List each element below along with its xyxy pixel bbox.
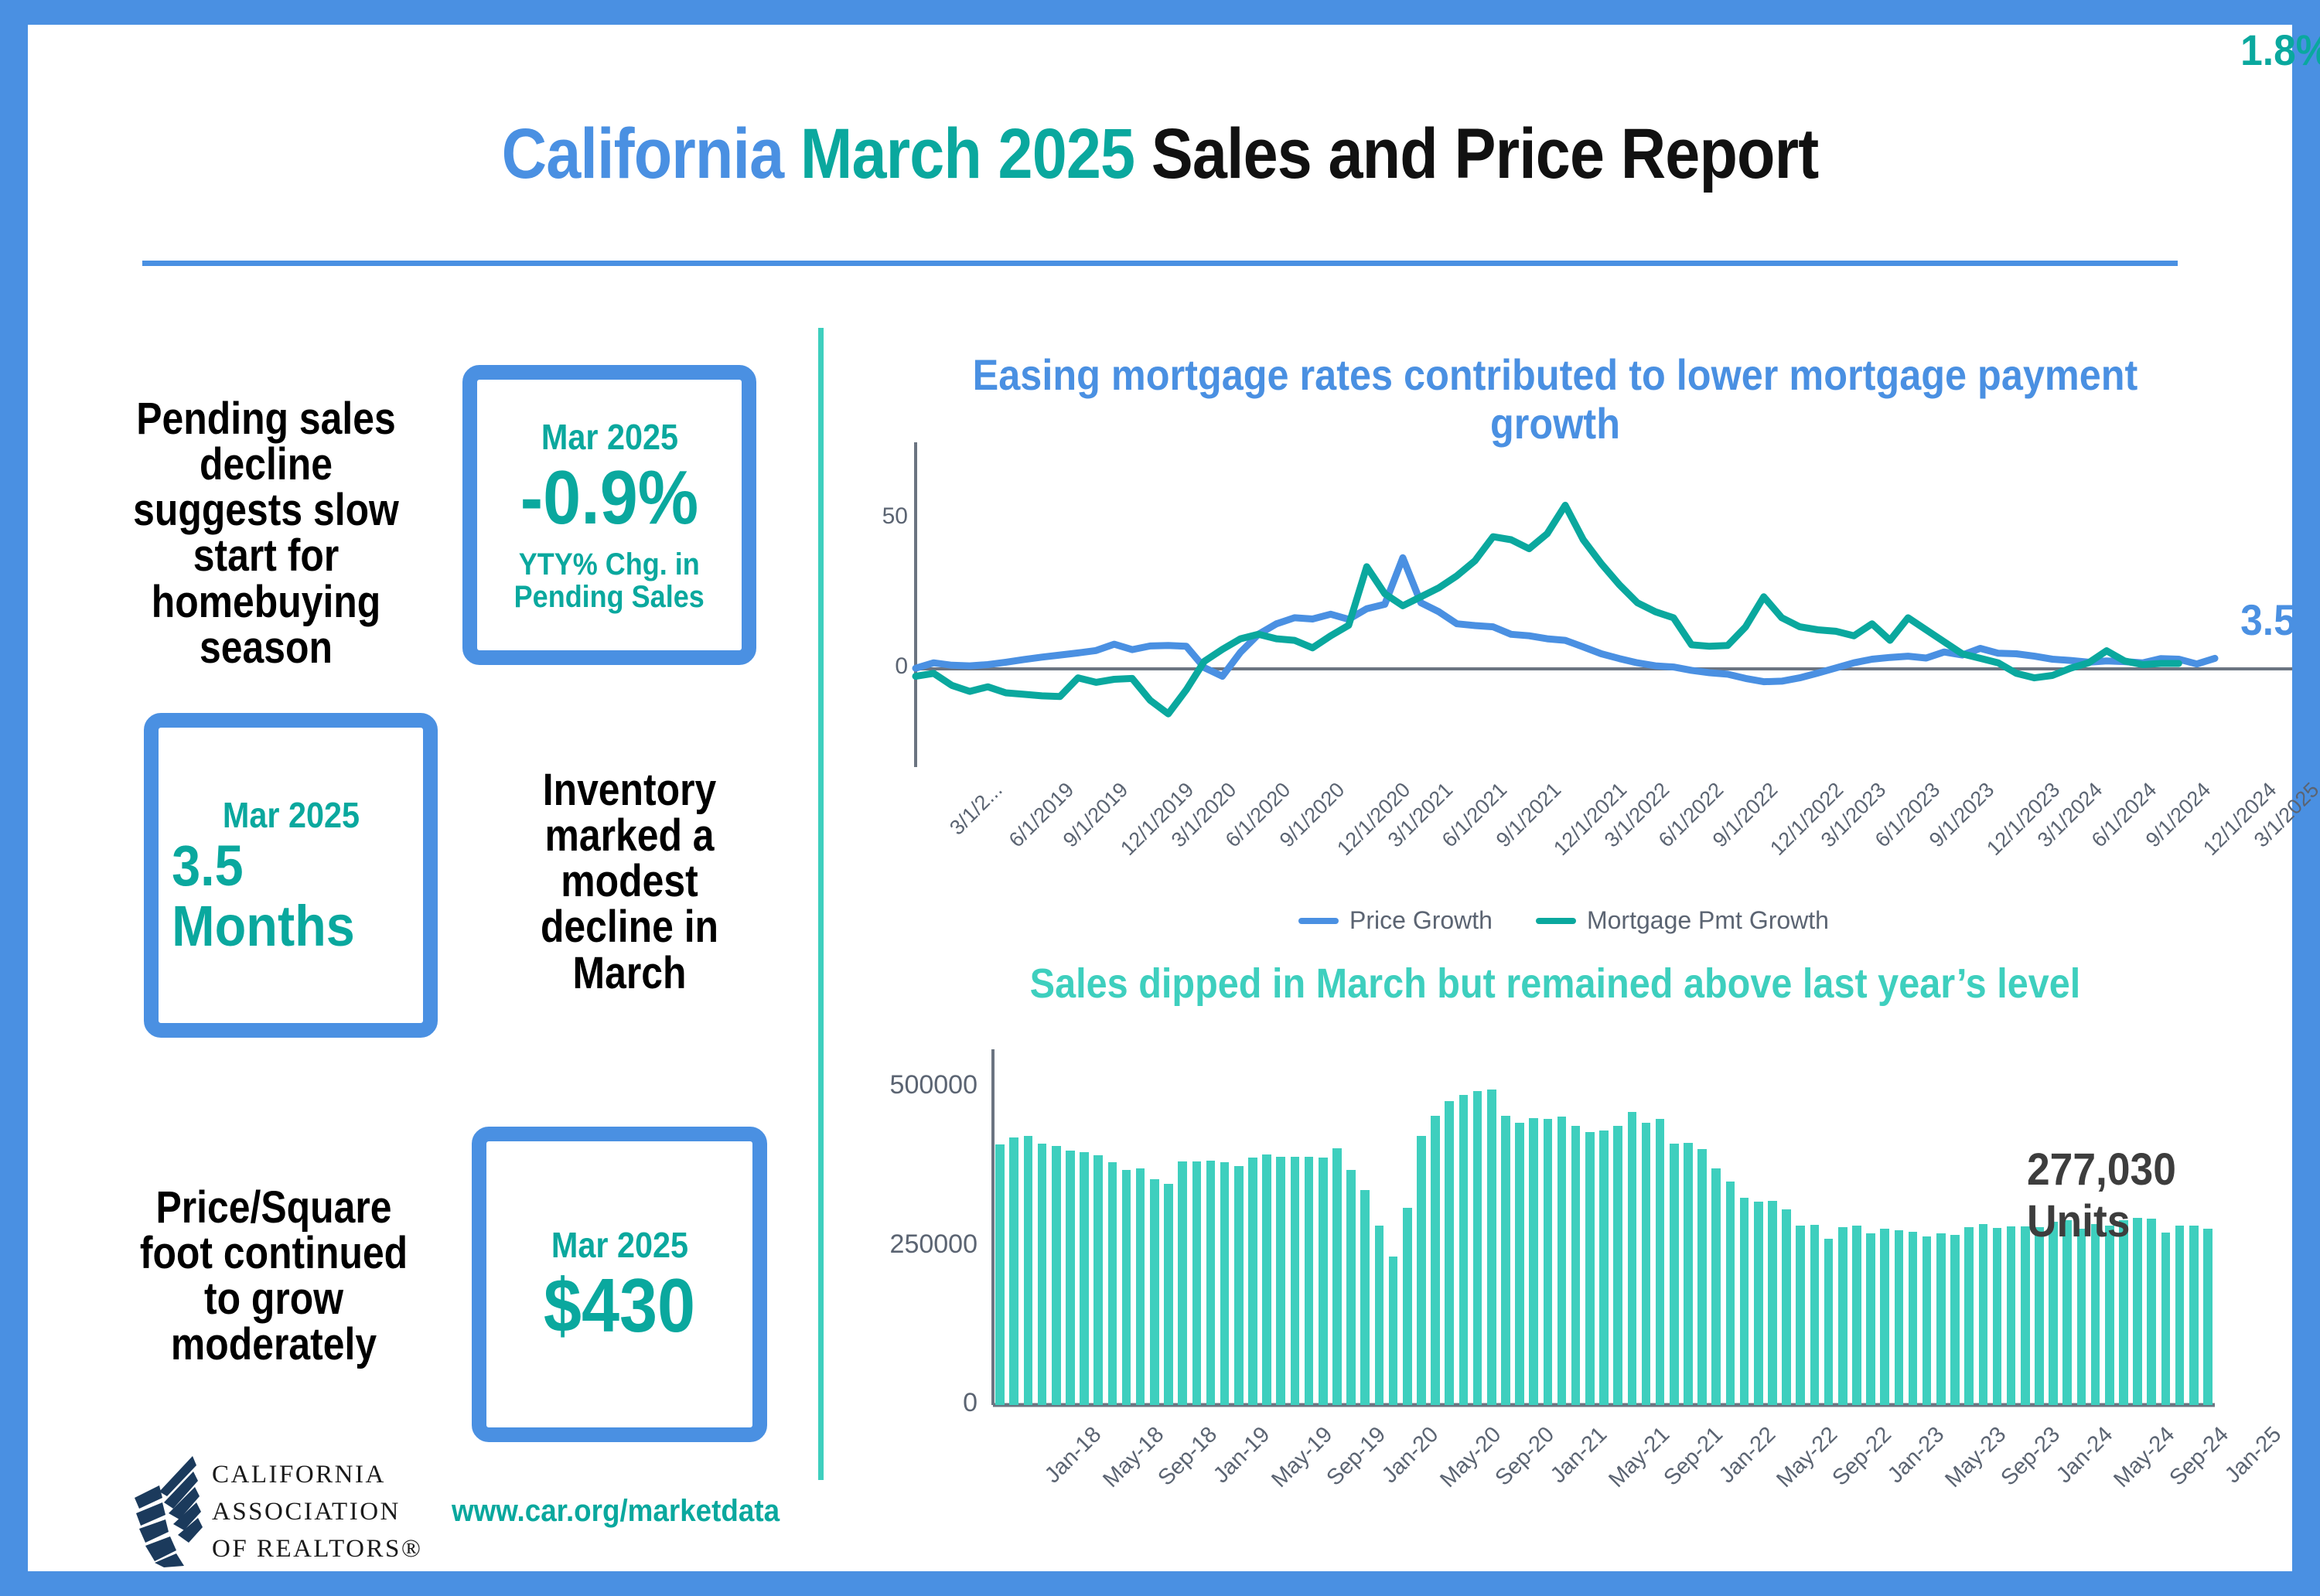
bar-chart-bar [1093, 1155, 1103, 1405]
bar-chart-bar [1346, 1170, 1356, 1405]
bar-chart-xtick: Jan-22 [1714, 1422, 1781, 1489]
line-chart-legend: Price GrowthMortgage Pmt Growth [879, 905, 2240, 935]
bar-chart-bar [1642, 1123, 1651, 1405]
bar-chart-bar [1571, 1126, 1581, 1405]
bar-chart-bar [1108, 1162, 1117, 1405]
bar-chart-bar [1866, 1233, 1875, 1405]
bar-chart-bar [1613, 1126, 1622, 1405]
bar-chart-bar [1038, 1144, 1047, 1405]
bar-chart-bar [1768, 1201, 1777, 1406]
bar-chart-bar [1950, 1235, 1960, 1405]
bar-chart-xtick: Jan-24 [2052, 1422, 2118, 1489]
bar-chart-xtick: Sep-24 [2165, 1422, 2233, 1491]
bar-chart-bar [1515, 1123, 1524, 1405]
bar-chart-bar [1459, 1095, 1469, 1405]
bar-chart-bar [1080, 1152, 1089, 1405]
bar-chart-xtick: May-24 [2110, 1422, 2181, 1493]
bar-chart-xtick: Sep-23 [1996, 1422, 2065, 1491]
bar-chart-xtick: Sep-19 [1322, 1422, 1391, 1491]
stat-value-inventory: 3.5 Months [172, 836, 410, 956]
bar-chart-bar [1431, 1116, 1440, 1405]
bar-chart-bar [1895, 1230, 1904, 1405]
sidebar-caption-price-sqft: Price/Square foot continued to grow mode… [134, 1185, 413, 1368]
marketdata-url[interactable]: www.car.org/marketdata [452, 1494, 780, 1529]
bar-chart-bar [1305, 1157, 1314, 1405]
bar-chart-bar [1009, 1137, 1018, 1405]
bar-chart-bar [1024, 1136, 1033, 1405]
bar-chart-bar [1164, 1184, 1173, 1405]
bar-chart-bar [1880, 1229, 1889, 1405]
bar-chart-xtick: Jan-21 [1546, 1422, 1612, 1489]
line-chart-ytick: 0 [861, 653, 908, 680]
bar-chart-bar [2035, 1227, 2044, 1405]
bar-chart-bar [1206, 1161, 1216, 1405]
bar-chart-bar [1178, 1161, 1187, 1405]
bar-chart-xtick: May-19 [1267, 1422, 1338, 1493]
bar-chart-bar [1979, 1224, 1988, 1405]
bar-chart-bar [1852, 1226, 1861, 1405]
logo-line-1: CALIFORNIA [212, 1457, 422, 1494]
bar-chart-bar [2091, 1224, 2100, 1405]
bar-chart-bar [1824, 1239, 1834, 1405]
bar-chart-xtick: Sep-22 [1827, 1422, 1896, 1491]
bar-chart-bar [1262, 1154, 1271, 1405]
bar-chart-bar [1248, 1158, 1257, 1405]
legend-swatch-price-growth [1298, 918, 1339, 924]
vertical-divider [818, 328, 824, 1480]
bar-chart-bar [2062, 1220, 2072, 1405]
bar-chart-bar [1796, 1226, 1805, 1405]
bar-chart-bar [1697, 1149, 1707, 1405]
bar-chart-bar [1585, 1132, 1595, 1405]
bar-chart-ytick: 500000 [815, 1070, 977, 1100]
bar-chart-xtick: May-18 [1098, 1422, 1169, 1493]
line-chart-end-label-mortgage-pmt-growth: 1.8% [2240, 25, 2320, 75]
bar-chart-xtick: Jan-19 [1209, 1422, 1275, 1489]
bar-chart-bar [1220, 1162, 1230, 1405]
bar-chart-bar [1711, 1168, 1721, 1405]
bar-chart-bar [1838, 1227, 1847, 1405]
page-title: California March 2025 Sales and Price Re… [164, 114, 2157, 195]
bar-chart-bar [1628, 1112, 1637, 1406]
bar-chart-bar [1332, 1148, 1342, 1405]
logo-line-3: OF REALTORS® [212, 1531, 422, 1568]
bar-chart-bar [1291, 1157, 1300, 1405]
line-chart-ytick: 50 [861, 503, 908, 530]
title-part-month: March 2025 [800, 114, 1151, 193]
bar-chart-xtick: May-23 [1941, 1422, 2012, 1493]
bar-chart-bar [1909, 1232, 1918, 1405]
bar-chart-bar [1726, 1182, 1735, 1405]
bar-chart-ytick: 0 [815, 1388, 977, 1418]
title-part-report: Sales and Price Report [1151, 114, 1819, 193]
logo-line-2: ASSOCIATION [212, 1494, 422, 1531]
bar-chart-bar [1936, 1233, 1946, 1405]
stat-value-pending: -0.9% [520, 458, 698, 537]
bar-chart-xtick: May-21 [1604, 1422, 1675, 1493]
bar-chart-bar [1445, 1101, 1454, 1405]
bar-chart-annotation: 277,030 Units [2027, 1144, 2271, 1247]
stat-box-pending-sales: Mar 2025 -0.9% YTY% Chg. inPending Sales [462, 365, 756, 665]
bar-chart-bar [1529, 1118, 1538, 1405]
bar-chart-bar [1276, 1157, 1285, 1405]
stat-box-inventory: Mar 2025 3.5 Months [144, 713, 438, 1038]
bar-chart-bar [1993, 1228, 2002, 1405]
legend-label-mortgage-pmt-growth: Mortgage Pmt Growth [1587, 906, 1829, 934]
bar-chart-bar [1599, 1130, 1609, 1405]
bar-chart-title: Sales dipped in March but remained above… [905, 960, 2206, 1007]
bar-chart-bar [2119, 1220, 2128, 1405]
stat-date-price: Mar 2025 [551, 1224, 687, 1266]
bar-chart-xtick: Sep-20 [1491, 1422, 1560, 1491]
legend-label-price-growth: Price Growth [1349, 906, 1493, 934]
bar-chart-bar [1192, 1161, 1202, 1405]
bar-chart-bar [1740, 1198, 1749, 1405]
bar-chart-bar [1501, 1116, 1510, 1405]
bar-chart-xtick: May-22 [1772, 1422, 1844, 1493]
bar-chart-bar [1122, 1170, 1131, 1405]
line-chart-xtick: 3/1/2... [945, 778, 1007, 840]
bar-chart-bar [1670, 1144, 1679, 1405]
bar-chart-bar [2203, 1229, 2213, 1405]
sidebar-caption-inventory: Inventory marked a modest decline in Mar… [517, 767, 742, 996]
bar-chart-bar [1684, 1143, 1693, 1405]
infographic-page: California March 2025 Sales and Price Re… [28, 25, 2292, 1571]
bar-chart-bar [2077, 1229, 2086, 1405]
stat-date-inventory: Mar 2025 [222, 794, 359, 836]
bar-chart-bar [1360, 1190, 1370, 1405]
sidebar-caption-pending-sales: Pending sales decline suggests slow star… [133, 396, 399, 670]
bar-chart-bar [2105, 1226, 2114, 1405]
bar-chart-bar [1473, 1091, 1482, 1405]
bar-chart-bar [995, 1144, 1005, 1405]
car-logo-text: CALIFORNIA ASSOCIATION OF REALTORS® [212, 1457, 422, 1568]
stat-box-price-sqft: Mar 2025 $430 [472, 1127, 767, 1442]
bar-chart-ytick: 250000 [815, 1229, 977, 1260]
bar-chart-bar [2021, 1226, 2030, 1405]
bar-chart-bar [2189, 1226, 2199, 1405]
bar-chart-bar [2007, 1226, 2016, 1405]
bar-chart-bar [1319, 1158, 1328, 1405]
bar-chart-bar [2049, 1222, 2058, 1405]
bar-chart-bar [1150, 1179, 1159, 1405]
bar-chart-bar [1375, 1226, 1384, 1405]
bar-chart-bar [2161, 1233, 2171, 1405]
title-divider [142, 261, 2178, 266]
bar-chart-xtick: Jan-25 [2220, 1422, 2287, 1489]
bar-chart-xtick: Sep-21 [1660, 1422, 1728, 1491]
bar-chart-bar [2175, 1226, 2185, 1405]
bar-chart-bar [1136, 1168, 1145, 1405]
bar-chart-bar [1389, 1257, 1398, 1405]
line-chart-title: Easing mortgage rates contributed to low… [919, 351, 2192, 448]
bar-chart-xtick: Sep-18 [1154, 1422, 1223, 1491]
stat-date-pending: Mar 2025 [541, 416, 677, 458]
bar-chart-xtick: Jan-20 [1377, 1422, 1444, 1489]
title-part-california: California [502, 114, 800, 193]
bar-chart-bar [1557, 1117, 1567, 1405]
bar-chart-bar [1923, 1236, 1932, 1405]
bar-chart-xtick: Jan-18 [1040, 1422, 1107, 1489]
bar-chart-bar [1656, 1119, 1665, 1405]
bar-chart-bar [1417, 1136, 1426, 1405]
bar-chart-bar [1810, 1225, 1820, 1405]
stat-value-price: $430 [544, 1266, 695, 1345]
stat-sub-pending: YTY% Chg. inPending Sales [514, 548, 705, 614]
bar-chart-bar [1964, 1227, 1974, 1405]
bar-chart-bar [1234, 1166, 1244, 1405]
bar-chart-bar [1754, 1202, 1763, 1405]
bar-chart-bar [1544, 1119, 1553, 1405]
bar-chart-bar [1487, 1090, 1496, 1405]
bar-chart-bar [1403, 1208, 1412, 1405]
bar-chart-bar [1782, 1209, 1791, 1405]
legend-swatch-mortgage-pmt-growth [1536, 918, 1576, 924]
line-chart-end-label-price-growth: 3.5% [2240, 595, 2320, 645]
bar-chart-xtick: May-20 [1435, 1422, 1506, 1493]
bar-chart-bar [1052, 1146, 1061, 1405]
bar-chart-xtick: Jan-23 [1883, 1422, 1950, 1489]
bar-chart-bar [1066, 1151, 1075, 1405]
